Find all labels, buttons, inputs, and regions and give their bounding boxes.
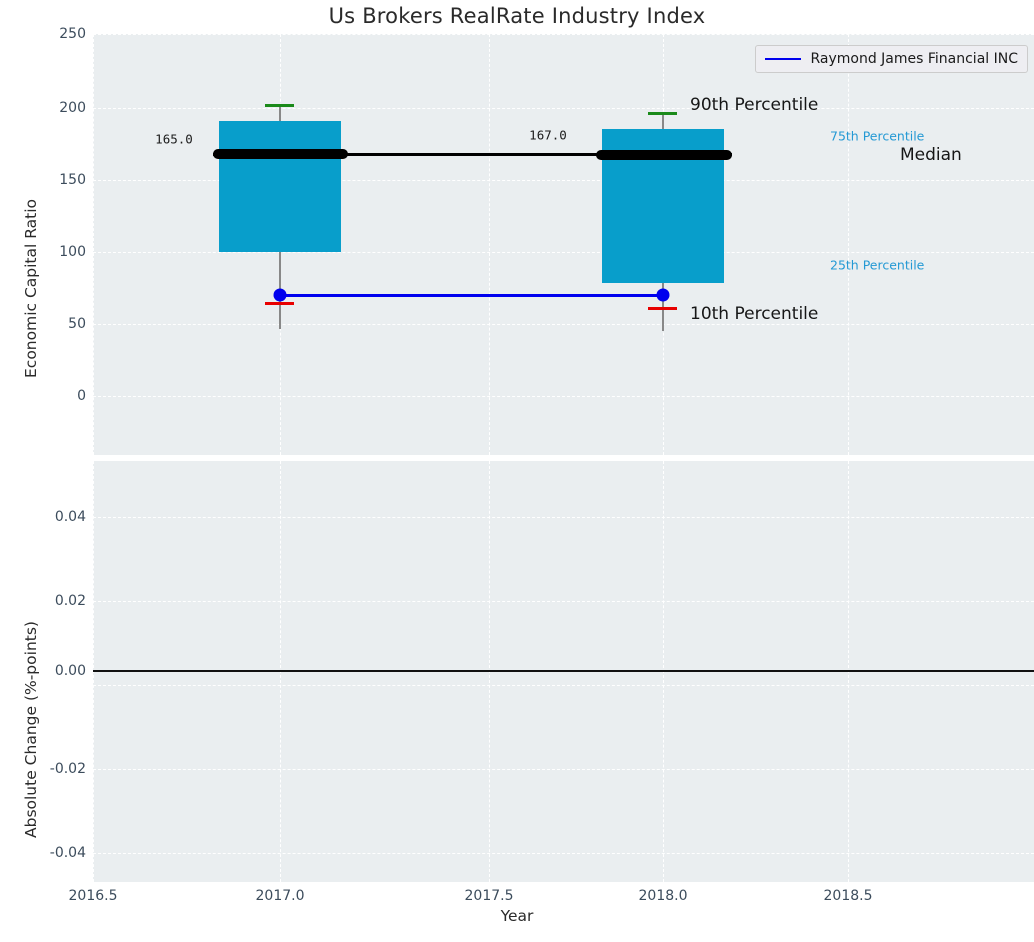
box-2017 [219, 121, 341, 252]
gridline-y-250 [93, 34, 1034, 35]
gridline-y-neg-0-04 [93, 853, 1034, 854]
gridline-y-0-02 [93, 601, 1034, 602]
xtick-2018-0: 2018.0 [639, 888, 688, 904]
median-value-label-2018: 167.0 [529, 128, 567, 143]
gridline-y-50 [93, 324, 1034, 325]
xtick-2017-5: 2017.5 [465, 888, 514, 904]
panel-economic-capital-ratio: 165.0 167.0 90th Percentile 75th Percent… [93, 34, 1034, 455]
company-point-2017 [274, 289, 287, 302]
y-axis-label-top: Economic Capital Ratio [22, 199, 40, 378]
gridline-x-2016-5 [93, 34, 94, 455]
zero-reference-line [93, 670, 1034, 672]
gridline-y-0-04 [93, 517, 1034, 518]
ytick-top-50: 50 [6, 316, 86, 332]
gridline-y-200 [93, 108, 1034, 109]
ytick-top-150: 150 [6, 172, 86, 188]
cap-p90-2018 [648, 112, 677, 115]
x-axis-label: Year [0, 907, 1034, 925]
cap-p90-2017 [265, 104, 294, 107]
median-bar-2018 [596, 150, 732, 160]
ytick-bot-0-04: 0.04 [6, 509, 86, 525]
panel-absolute-change [93, 461, 1034, 882]
ytick-bot-0-02: 0.02 [6, 593, 86, 609]
cap-p10-2018 [648, 307, 677, 310]
annotation-25th-percentile: 25th Percentile [830, 258, 924, 273]
gridline-x-2017-5 [489, 34, 490, 455]
gridline-y-neg-0-02 [93, 769, 1034, 770]
gridline-x-2018-5 [848, 34, 849, 455]
ytick-top-250: 250 [6, 26, 86, 42]
ytick-bot-neg-0-02: -0.02 [6, 761, 86, 777]
ytick-bot-neg-0-04: -0.04 [6, 845, 86, 861]
ytick-top-0: 0 [6, 388, 86, 404]
annotation-10th-percentile: 10th Percentile [690, 304, 818, 324]
gridline-y-0 [93, 396, 1034, 397]
ytick-top-200: 200 [6, 100, 86, 116]
ytick-top-100: 100 [6, 244, 86, 260]
median-bar-2017 [213, 149, 348, 159]
cap-p10-2017 [265, 302, 294, 305]
chart-legend[interactable]: Raymond James Financial INC [755, 45, 1028, 73]
chart-figure: Us Brokers RealRate Industry Index [0, 0, 1034, 942]
annotation-median: Median [900, 145, 962, 165]
annotation-75th-percentile: 75th Percentile [830, 129, 924, 144]
chart-title: Us Brokers RealRate Industry Index [0, 4, 1034, 28]
ytick-bot-0-00: 0.00 [6, 663, 86, 679]
xtick-2017-0: 2017.0 [256, 888, 305, 904]
company-point-2018 [657, 289, 670, 302]
legend-line-swatch-icon [765, 58, 801, 60]
xtick-2016-5: 2016.5 [69, 888, 118, 904]
median-value-label-2017: 165.0 [155, 132, 193, 147]
annotation-90th-percentile: 90th Percentile [690, 95, 818, 115]
xtick-2018-5: 2018.5 [824, 888, 873, 904]
legend-label-raymond-james: Raymond James Financial INC [810, 51, 1018, 67]
company-series-line [279, 294, 663, 297]
y-axis-label-bottom: Absolute Change (%-points) [22, 621, 40, 838]
gridline-y-100 [93, 252, 1034, 253]
gridline-y-0-00 [93, 685, 1034, 686]
